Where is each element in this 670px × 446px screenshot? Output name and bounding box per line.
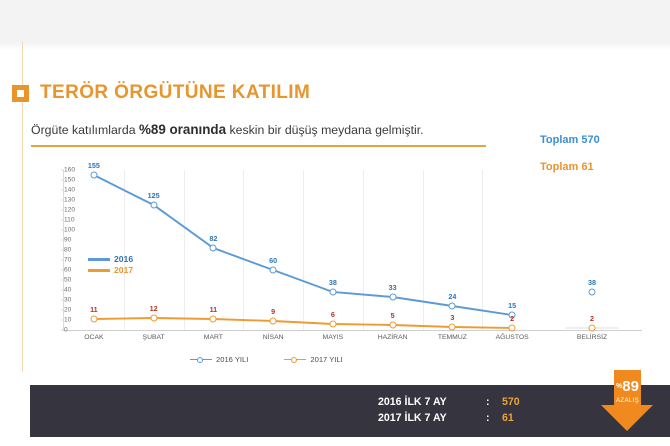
data-point-label: 11 (210, 305, 218, 314)
x-axis-label: ŞUBAT (143, 334, 165, 341)
data-point-marker (210, 245, 217, 252)
data-point-label: 24 (448, 292, 456, 301)
slide-canvas: TERÖR ÖRGÜTÜNE KATILIM Örgüte katılımlar… (0, 0, 670, 446)
subtitle: Örgüte katılımlarda %89 oranında keskin … (31, 122, 424, 137)
legend-marker-2016-icon (190, 356, 212, 364)
orange-square-icon (12, 85, 29, 102)
x-axis-label: NİSAN (263, 334, 284, 341)
page-title-text: TERÖR ÖRGÜTÜNE KATILIM (40, 82, 310, 104)
data-point-label: 2 (510, 314, 514, 323)
inline-key-2017: 2017 (88, 265, 133, 276)
legend-item-2017: 2017 YILI (284, 355, 342, 364)
footer-row-colon: : (486, 410, 502, 426)
data-point-label: 82 (209, 234, 217, 243)
footer-summary: 2016 İLK 7 AY : 570 2017 İLK 7 AY : 61 (378, 394, 520, 426)
legend-label-2017: 2017 YILI (310, 355, 342, 364)
data-point-marker (389, 294, 396, 301)
footer-row-value: 570 (502, 394, 520, 410)
data-point-marker (449, 324, 456, 331)
top-band (0, 0, 670, 42)
data-point-marker (270, 318, 277, 325)
footer-row: 2016 İLK 7 AY : 570 (378, 394, 520, 410)
x-axis-label: MAYIS (323, 334, 344, 341)
down-arrow-icon: %89 AZALIŞ (601, 370, 654, 432)
data-point-label: 15 (508, 301, 516, 310)
data-point-label: 125 (148, 191, 160, 200)
data-point-label: 38 (588, 278, 596, 287)
data-point-marker (150, 202, 157, 209)
page-title: TERÖR ÖRGÜTÜNE KATILIM (12, 82, 310, 104)
data-point-label: 6 (331, 310, 335, 319)
x-axis-label: BELİRSİZ (577, 334, 607, 341)
data-point-label: 3 (450, 313, 454, 322)
data-point-marker (270, 267, 277, 274)
inline-key-2016: 2016 (88, 254, 133, 265)
data-point-marker (329, 321, 336, 328)
footer-row-label: 2017 İLK 7 AY (378, 410, 486, 426)
data-point-label: 155 (88, 161, 100, 170)
x-axis-label: MART (204, 334, 223, 341)
line-chart: 1601501401301201101009080706050403020100… (26, 160, 646, 372)
badge-caption: AZALIŞ (601, 397, 654, 404)
footer-bar (30, 385, 670, 437)
subtitle-post: keskin bir düşüş meydana gelmiştir. (226, 123, 424, 137)
swatch-2016-icon (88, 258, 110, 261)
data-point-label: 9 (271, 307, 275, 316)
footer-row-label: 2016 İLK 7 AY (378, 394, 486, 410)
inline-key-2017-label: 2017 (114, 265, 133, 276)
data-point-label: 38 (329, 278, 337, 287)
legend-marker-2017-icon (284, 356, 306, 364)
data-point-marker (90, 316, 97, 323)
inline-series-key: 2016 2017 (88, 254, 133, 276)
inline-key-2016-label: 2016 (114, 254, 133, 265)
footer-row: 2017 İLK 7 AY : 61 (378, 410, 520, 426)
chart-legend: 2016 YILI 2017 YILI (190, 355, 343, 364)
x-axis-label: TEMMUZ (438, 334, 467, 341)
total-2017: Toplam 61 (540, 161, 594, 173)
data-point-marker (90, 172, 97, 179)
footer-row-colon: : (486, 394, 502, 410)
legend-label-2016: 2016 YILI (216, 355, 248, 364)
x-axis-label: HAZİRAN (378, 334, 408, 341)
subtitle-highlight: %89 oranında (139, 122, 226, 137)
data-point-label: 60 (269, 256, 277, 265)
subtitle-underline (31, 145, 486, 147)
data-point-label: 2 (590, 314, 594, 323)
data-point-marker (210, 316, 217, 323)
data-point-label: 33 (389, 283, 397, 292)
total-2016: Toplam 570 (540, 134, 600, 146)
badge-percent-value: 89 (622, 378, 639, 395)
subtitle-pre: Örgüte katılımlarda (31, 123, 139, 137)
data-point-marker (329, 289, 336, 296)
data-point-marker (389, 322, 396, 329)
data-point-marker (150, 315, 157, 322)
data-point-marker (589, 289, 596, 296)
swatch-2017-icon (88, 269, 110, 272)
data-point-label: 11 (90, 305, 98, 314)
data-point-label: 12 (150, 304, 158, 313)
data-point-marker (509, 325, 516, 332)
data-point-marker (449, 303, 456, 310)
data-point-marker (589, 325, 596, 332)
x-axis-label: AĞUSTOS (496, 334, 529, 341)
badge-percent: %89 (601, 378, 654, 396)
x-axis-label: OCAK (84, 334, 103, 341)
top-band-fade (0, 42, 670, 50)
footer-row-value: 61 (502, 410, 514, 426)
data-point-label: 5 (391, 311, 395, 320)
legend-item-2016: 2016 YILI (190, 355, 248, 364)
